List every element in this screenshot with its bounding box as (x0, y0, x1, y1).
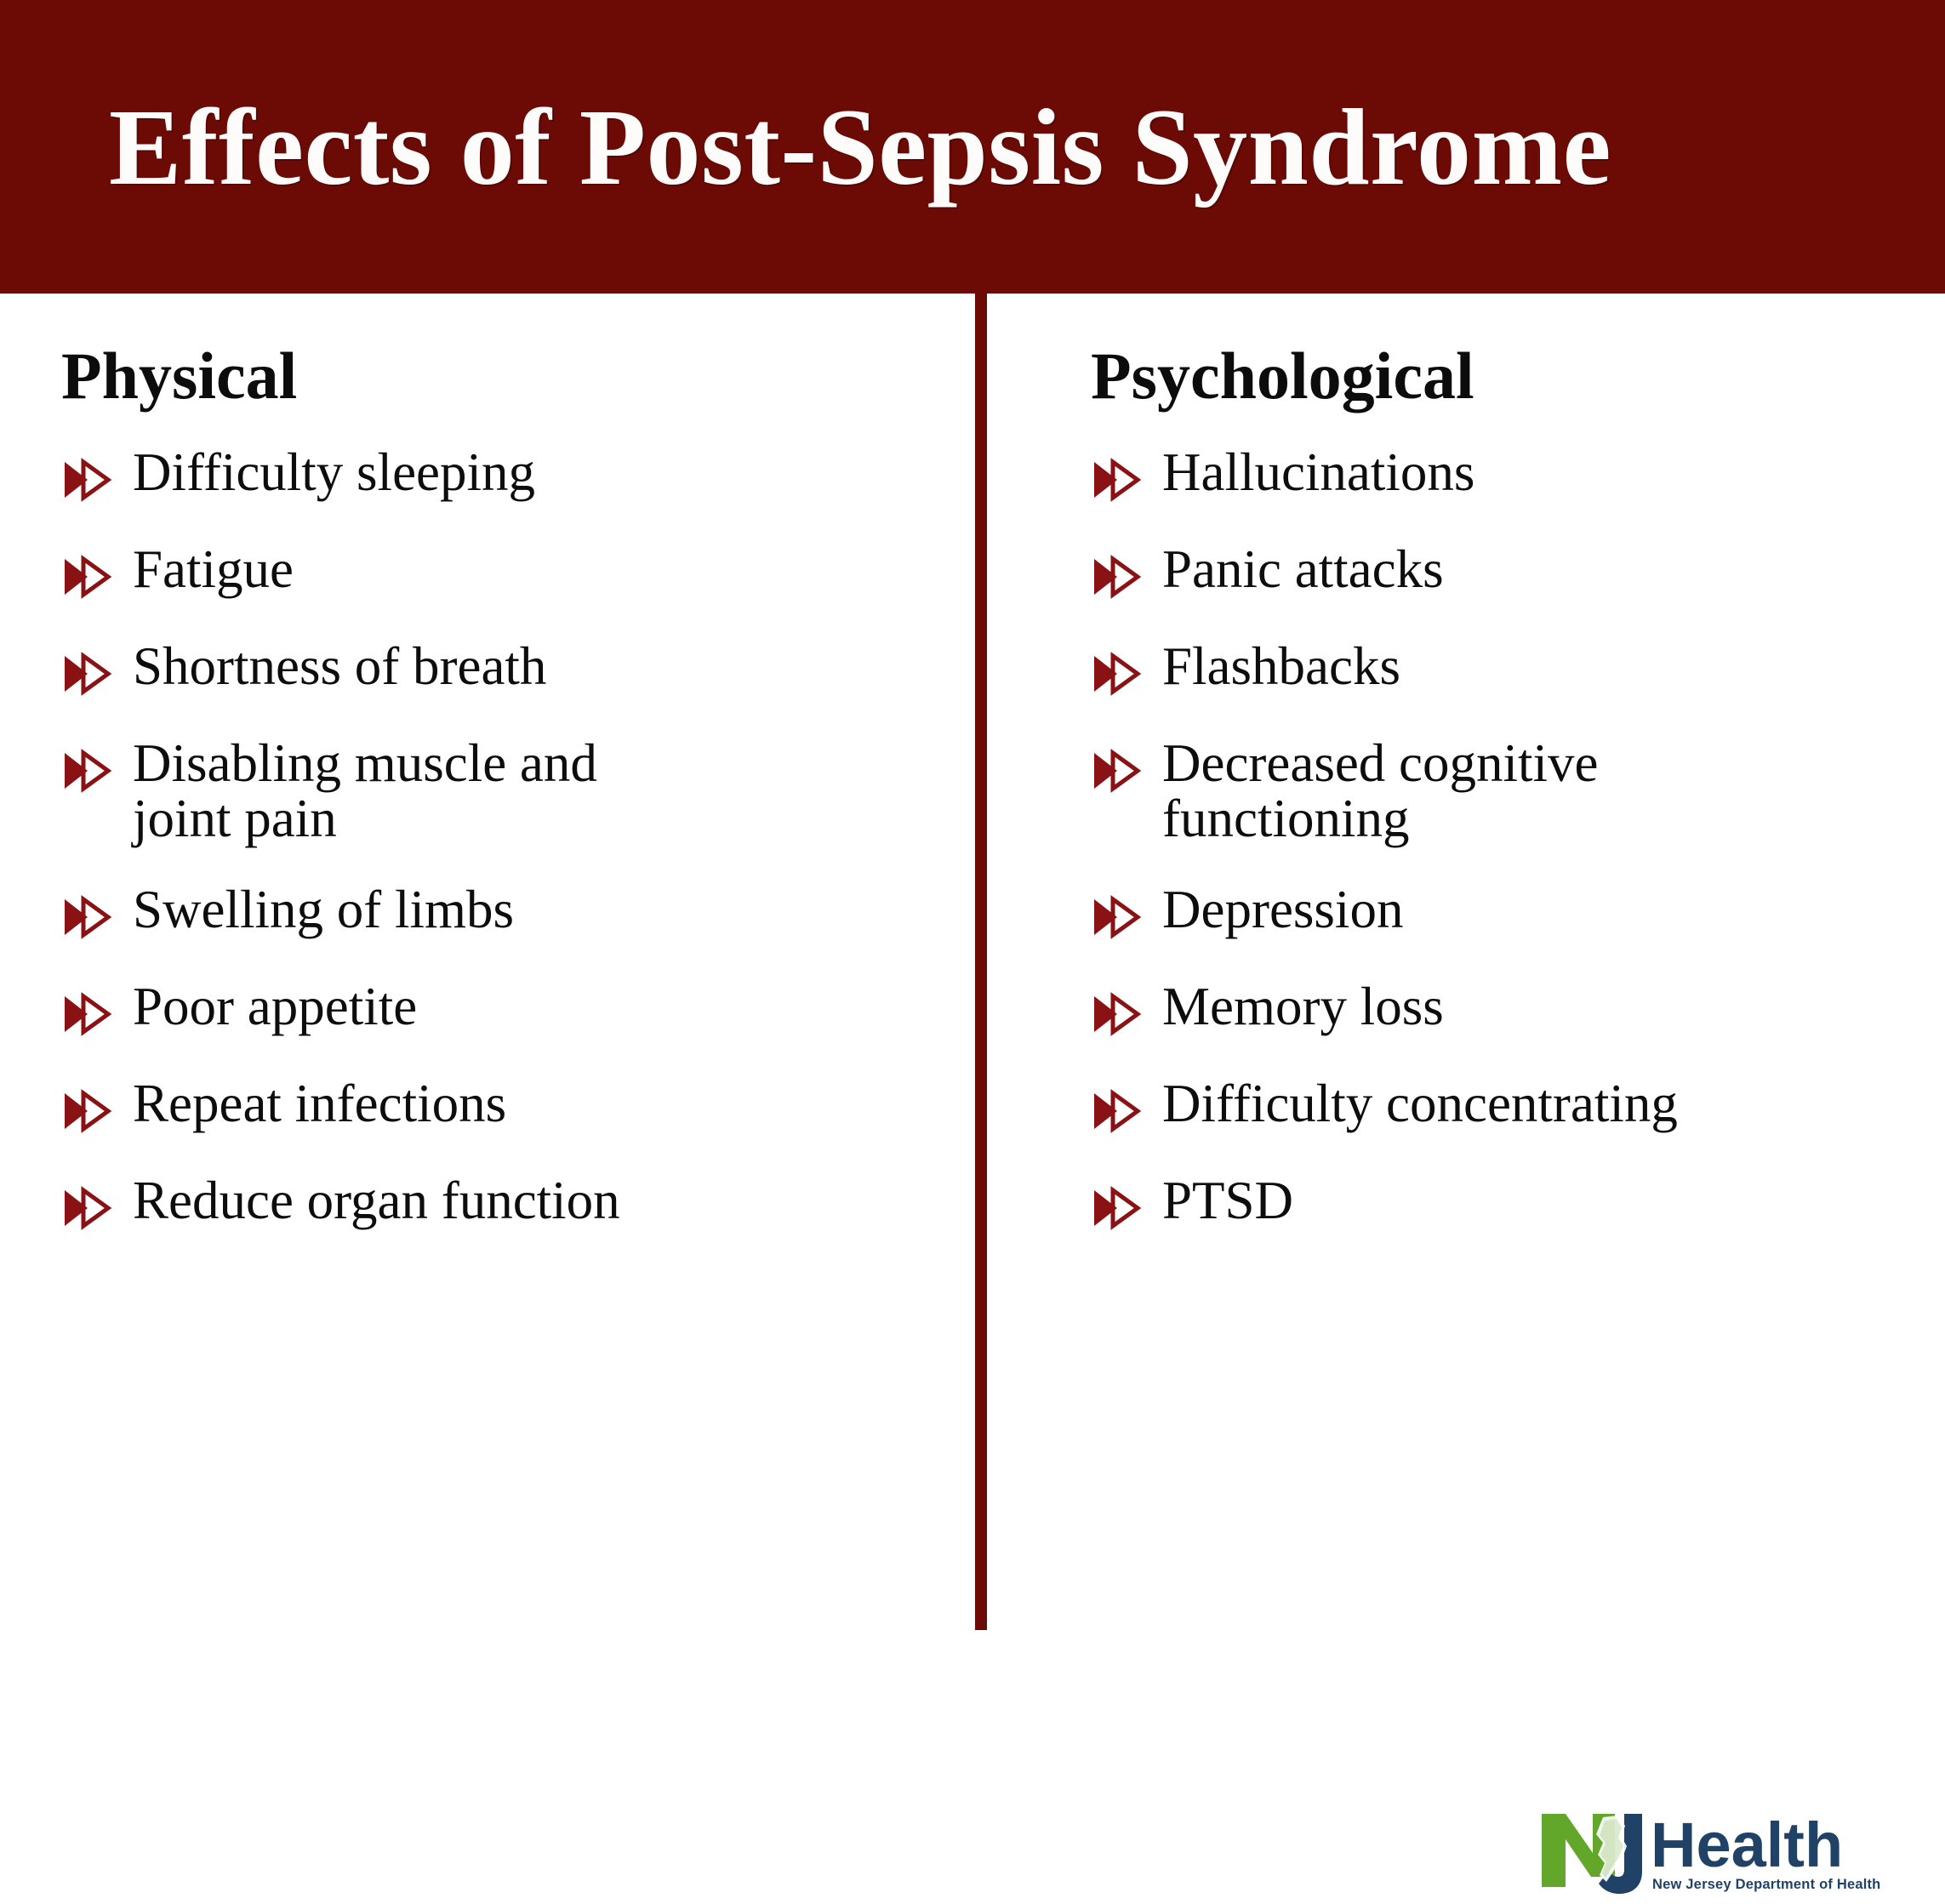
double-chevron-right-icon (61, 988, 114, 1040)
list-item: Panic attacks (1091, 542, 1945, 603)
column-heading-physical: Physical (61, 343, 975, 409)
double-chevron-right-icon (61, 1182, 114, 1234)
list-item-label: Repeat infections (133, 1076, 506, 1132)
double-chevron-right-icon (1091, 988, 1144, 1040)
list-item: Fatigue (61, 542, 975, 603)
list-item-label: Hallucinations (1162, 445, 1474, 500)
physical-effects-list: Difficulty sleeping Fatigue (0, 445, 975, 1234)
list-item-label: Swelling of limbs (133, 882, 514, 938)
list-item-label: Poor appetite (133, 979, 417, 1035)
list-item: PTSD (1091, 1173, 1945, 1234)
list-item-label: Depression (1162, 882, 1403, 938)
list-item-label: Difficulty sleeping (133, 445, 535, 500)
double-chevron-right-icon (1091, 1085, 1144, 1137)
column-heading-psychological: Psychological (1091, 343, 1945, 409)
page-title: Effects of Post-Sepsis Syndrome (109, 93, 1611, 202)
list-item-label: Fatigue (133, 542, 294, 597)
double-chevron-right-icon (61, 891, 114, 943)
list-item: Depression (1091, 882, 1945, 943)
list-item: Hallucinations (1091, 445, 1945, 506)
list-item: Poor appetite (61, 979, 975, 1040)
list-item-label: Disabling muscle and joint pain (133, 736, 694, 847)
list-item: Disabling muscle and joint pain (61, 736, 975, 847)
logo-wordmark: Health (1651, 1810, 1843, 1880)
list-item-label: Difficulty concentrating (1162, 1076, 1678, 1132)
list-item-label: Reduce organ function (133, 1173, 620, 1228)
list-item-label: Memory loss (1162, 979, 1444, 1035)
double-chevron-right-icon (61, 1085, 114, 1137)
double-chevron-right-icon (61, 550, 114, 603)
double-chevron-right-icon (1091, 550, 1144, 603)
list-item: Swelling of limbs (61, 882, 975, 943)
list-item-label: Flashbacks (1162, 639, 1400, 694)
double-chevron-right-icon (1091, 744, 1144, 797)
list-item: Memory loss (1091, 979, 1945, 1040)
list-item-label: Shortness of breath (133, 639, 546, 694)
double-chevron-right-icon (1091, 453, 1144, 506)
double-chevron-right-icon (1091, 647, 1144, 700)
psychological-effects-list: Hallucinations Panic attacks (987, 445, 1945, 1234)
list-item: Shortness of breath (61, 639, 975, 700)
list-item: Flashbacks (1091, 639, 1945, 700)
list-item: Difficulty sleeping (61, 445, 975, 506)
double-chevron-right-icon (61, 744, 114, 797)
double-chevron-right-icon (61, 647, 114, 700)
list-item: Decreased cognitive functioning (1091, 736, 1945, 847)
double-chevron-right-icon (61, 453, 114, 506)
list-item-label: Panic attacks (1162, 542, 1444, 597)
column-physical: Physical Difficulty sleeping (0, 294, 975, 1234)
column-psychological: Psychological Hallucinations (987, 294, 1945, 1234)
double-chevron-right-icon (1091, 891, 1144, 943)
header-band: Effects of Post-Sepsis Syndrome (0, 0, 1945, 294)
list-item: Difficulty concentrating (1091, 1076, 1945, 1137)
list-item-label: PTSD (1162, 1173, 1293, 1228)
logo-tagline: New Jersey Department of Health (1652, 1877, 1880, 1892)
list-item: Repeat infections (61, 1076, 975, 1137)
nj-health-logo: Health New Jersey Department of Health (1537, 1809, 1889, 1904)
list-item: Reduce organ function (61, 1173, 975, 1234)
column-divider (975, 294, 987, 1630)
double-chevron-right-icon (1091, 1182, 1144, 1234)
content-area: Physical Difficulty sleeping (0, 294, 1945, 1630)
list-item-label: Decreased cognitive functioning (1162, 736, 1707, 847)
